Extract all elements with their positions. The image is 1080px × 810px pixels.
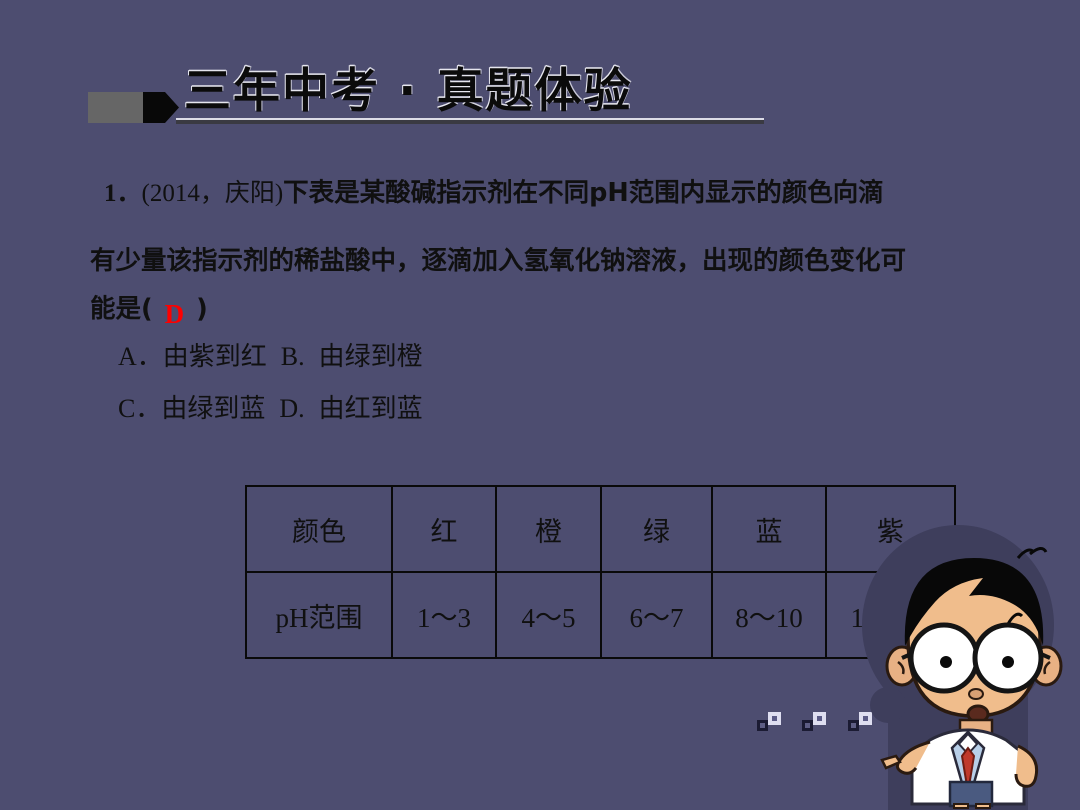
option-b-text: 由绿到橙: [319, 342, 423, 372]
slide-canvas: 三年中考 · 真题体验 1．(2014，庆阳)下表是某酸碱指示剂在不同pH范围内…: [0, 0, 1080, 810]
option-c-letter: C．: [118, 394, 161, 423]
option-d-text: 由红到蓝: [319, 394, 423, 424]
question-stem-line3-after: ): [196, 294, 208, 324]
option-a-letter: A．: [118, 342, 163, 371]
table-header-blue: 蓝: [712, 486, 826, 572]
table-row-label-ph: pH范围: [246, 572, 392, 658]
cartoon-boy-character: [868, 528, 1080, 810]
table-header-red: 红: [392, 486, 496, 572]
table-row: 颜色 红 橙 绿 蓝 紫: [246, 486, 955, 572]
answer-value: D: [153, 299, 197, 329]
question-source: (2014，庆阳): [142, 180, 284, 207]
table-header-label: 颜色: [246, 486, 392, 572]
table-row: pH范围 1～3 4～5 6～7 8～10 11～14: [246, 572, 955, 658]
option-d-letter: D.: [279, 394, 304, 423]
page-title: 三年中考 · 真题体验: [184, 52, 633, 121]
option-row-cd: C．由绿到蓝D.由红到蓝: [118, 388, 423, 425]
question-line-2: 有少量该指示剂的稀盐酸中，逐滴加入氢氧化钠溶液，出现的颜色变化可: [90, 240, 906, 277]
option-b-letter: B.: [281, 342, 305, 371]
question-line-3: 能是(D): [90, 288, 208, 325]
option-row-ab: A．由紫到红B.由绿到橙: [118, 336, 423, 373]
table-header-orange: 橙: [496, 486, 601, 572]
question-number: 1．: [104, 180, 142, 207]
table-cell-ph-orange: 4～5: [496, 572, 601, 658]
title-bullet-arrow-icon: [143, 92, 179, 123]
title-underline: [176, 118, 764, 124]
title-bullet-rect: [88, 92, 144, 123]
table-cell-ph-blue: 8～10: [712, 572, 826, 658]
question-stem-part-1: 下表是某酸碱指示剂在不同pH范围内显示的颜色向滴: [283, 178, 884, 208]
table-header-green: 绿: [601, 486, 712, 572]
option-c-text: 由绿到蓝: [161, 394, 265, 424]
table-cell-ph-red: 1～3: [392, 572, 496, 658]
option-a-text: 由紫到红: [163, 342, 267, 372]
ph-color-table: 颜色 红 橙 绿 蓝 紫 pH范围 1～3 4～5 6～7 8～10 11～14: [245, 485, 956, 659]
question-stem-line3-before: 能是(: [90, 294, 153, 324]
table-cell-ph-green: 6～7: [601, 572, 712, 658]
slide-title-block: 三年中考 · 真题体验: [88, 52, 698, 132]
question-line-1: 1．(2014，庆阳)下表是某酸碱指示剂在不同pH范围内显示的颜色向滴: [104, 172, 884, 209]
